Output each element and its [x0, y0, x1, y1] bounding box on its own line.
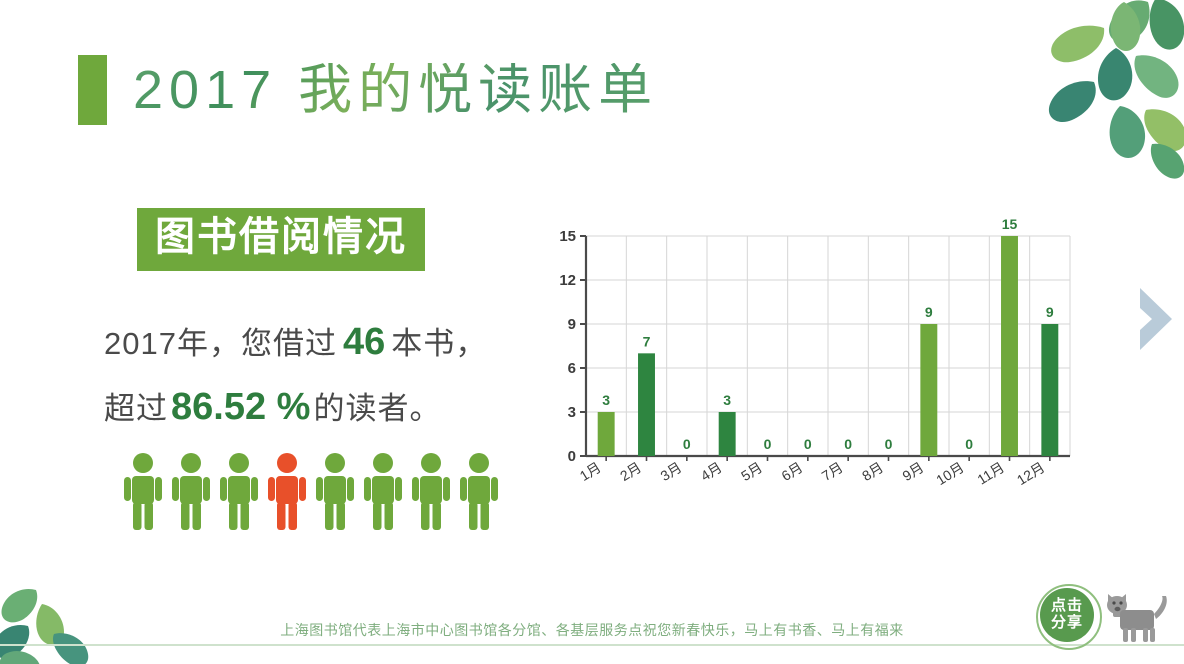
x-axis-tick-label: 7月: [819, 459, 846, 484]
bar-value-label: 7: [643, 333, 651, 349]
bar: [719, 412, 736, 456]
bar-value-label: 3: [723, 392, 731, 408]
bar-value-label: 15: [1002, 216, 1018, 232]
person-icon-1: [124, 452, 162, 530]
x-axis-tick-label: 2月: [617, 459, 644, 484]
bar: [638, 353, 655, 456]
person-icon-3: [220, 452, 258, 530]
x-axis-tick-label: 5月: [738, 459, 765, 484]
people-icon-row: [124, 452, 498, 530]
person-icon-8: [460, 452, 498, 530]
leaves-decoration-icon: [998, 0, 1184, 180]
bar-value-label: 0: [804, 436, 812, 452]
bar-value-label: 9: [925, 304, 933, 320]
x-axis-tick-label: 3月: [657, 459, 684, 484]
summary-percent: 86.52 %: [168, 386, 313, 428]
y-axis-tick-label: 6: [568, 360, 576, 377]
x-axis-tick-label: 8月: [859, 459, 886, 484]
x-axis-tick-label: 4月: [698, 459, 725, 484]
bar: [1001, 236, 1018, 456]
share-label-line1: 点击: [1051, 598, 1083, 615]
y-axis-tick-label: 15: [559, 228, 576, 245]
footer-message: 上海图书馆代表上海市中心图书馆各分馆、各基层服务点祝您新春快乐，马上有书香、马上…: [0, 620, 1184, 640]
dog-illustration-icon: [1100, 590, 1172, 644]
chevron-right-icon[interactable]: [1136, 286, 1176, 352]
bar: [598, 412, 615, 456]
share-label-line2: 分享: [1051, 615, 1083, 632]
page-title: 2017 我的悦读账单: [78, 48, 658, 132]
y-axis-tick-label: 9: [568, 316, 576, 333]
bar-value-label: 9: [1046, 304, 1054, 320]
footer-divider: [0, 644, 1184, 646]
share-button[interactable]: 点击 分享: [1034, 584, 1174, 650]
bar-value-label: 0: [885, 436, 893, 452]
x-axis-tick-label: 11月: [974, 459, 1007, 488]
person-icon-4: [268, 452, 306, 530]
book-borrow-bar-chart: 0369121531月72月03月34月05月06月07月08月99月010月1…: [540, 214, 1088, 514]
summary-line1-prefix: 2017年，您借过: [104, 326, 337, 361]
x-axis-tick-label: 1月: [577, 459, 604, 484]
y-axis-tick-label: 3: [568, 404, 576, 421]
slide-canvas: 2017 我的悦读账单 图书借阅情况 2017年，您借过46本书， 超过86.5…: [0, 0, 1184, 664]
y-axis-tick-label: 0: [568, 448, 576, 465]
title-label: 2017 我的悦读账单: [133, 63, 658, 117]
x-axis-tick-label: 10月: [933, 459, 967, 488]
summary-books-count: 46: [337, 321, 391, 363]
person-icon-7: [412, 452, 450, 530]
x-axis-tick-label: 6月: [778, 459, 805, 484]
summary-line1-suffix: 本书，: [391, 326, 487, 361]
summary-line2-suffix: 的读者。: [313, 391, 441, 426]
person-icon-2: [172, 452, 210, 530]
status-badge-book-borrow: 图书借阅情况: [137, 208, 425, 271]
y-axis-tick-label: 12: [559, 272, 576, 289]
title-accent-bar: [78, 55, 107, 125]
person-icon-5: [316, 452, 354, 530]
share-circle-label[interactable]: 点击 分享: [1040, 588, 1094, 642]
borrow-summary-text: 2017年，您借过46本书， 超过86.52 %的读者。: [104, 310, 574, 441]
x-axis-tick-label: 12月: [1014, 459, 1048, 488]
bar-value-label: 3: [602, 392, 610, 408]
x-axis-tick-label: 9月: [899, 459, 926, 484]
bar: [920, 324, 937, 456]
bar-value-label: 0: [764, 436, 772, 452]
bar: [1041, 324, 1058, 456]
bar-value-label: 0: [844, 436, 852, 452]
summary-line2-prefix: 超过: [104, 391, 168, 426]
bar-value-label: 0: [683, 436, 691, 452]
bar-value-label: 0: [965, 436, 973, 452]
person-icon-6: [364, 452, 402, 530]
leaves-decoration-bottom-icon: [0, 564, 110, 664]
